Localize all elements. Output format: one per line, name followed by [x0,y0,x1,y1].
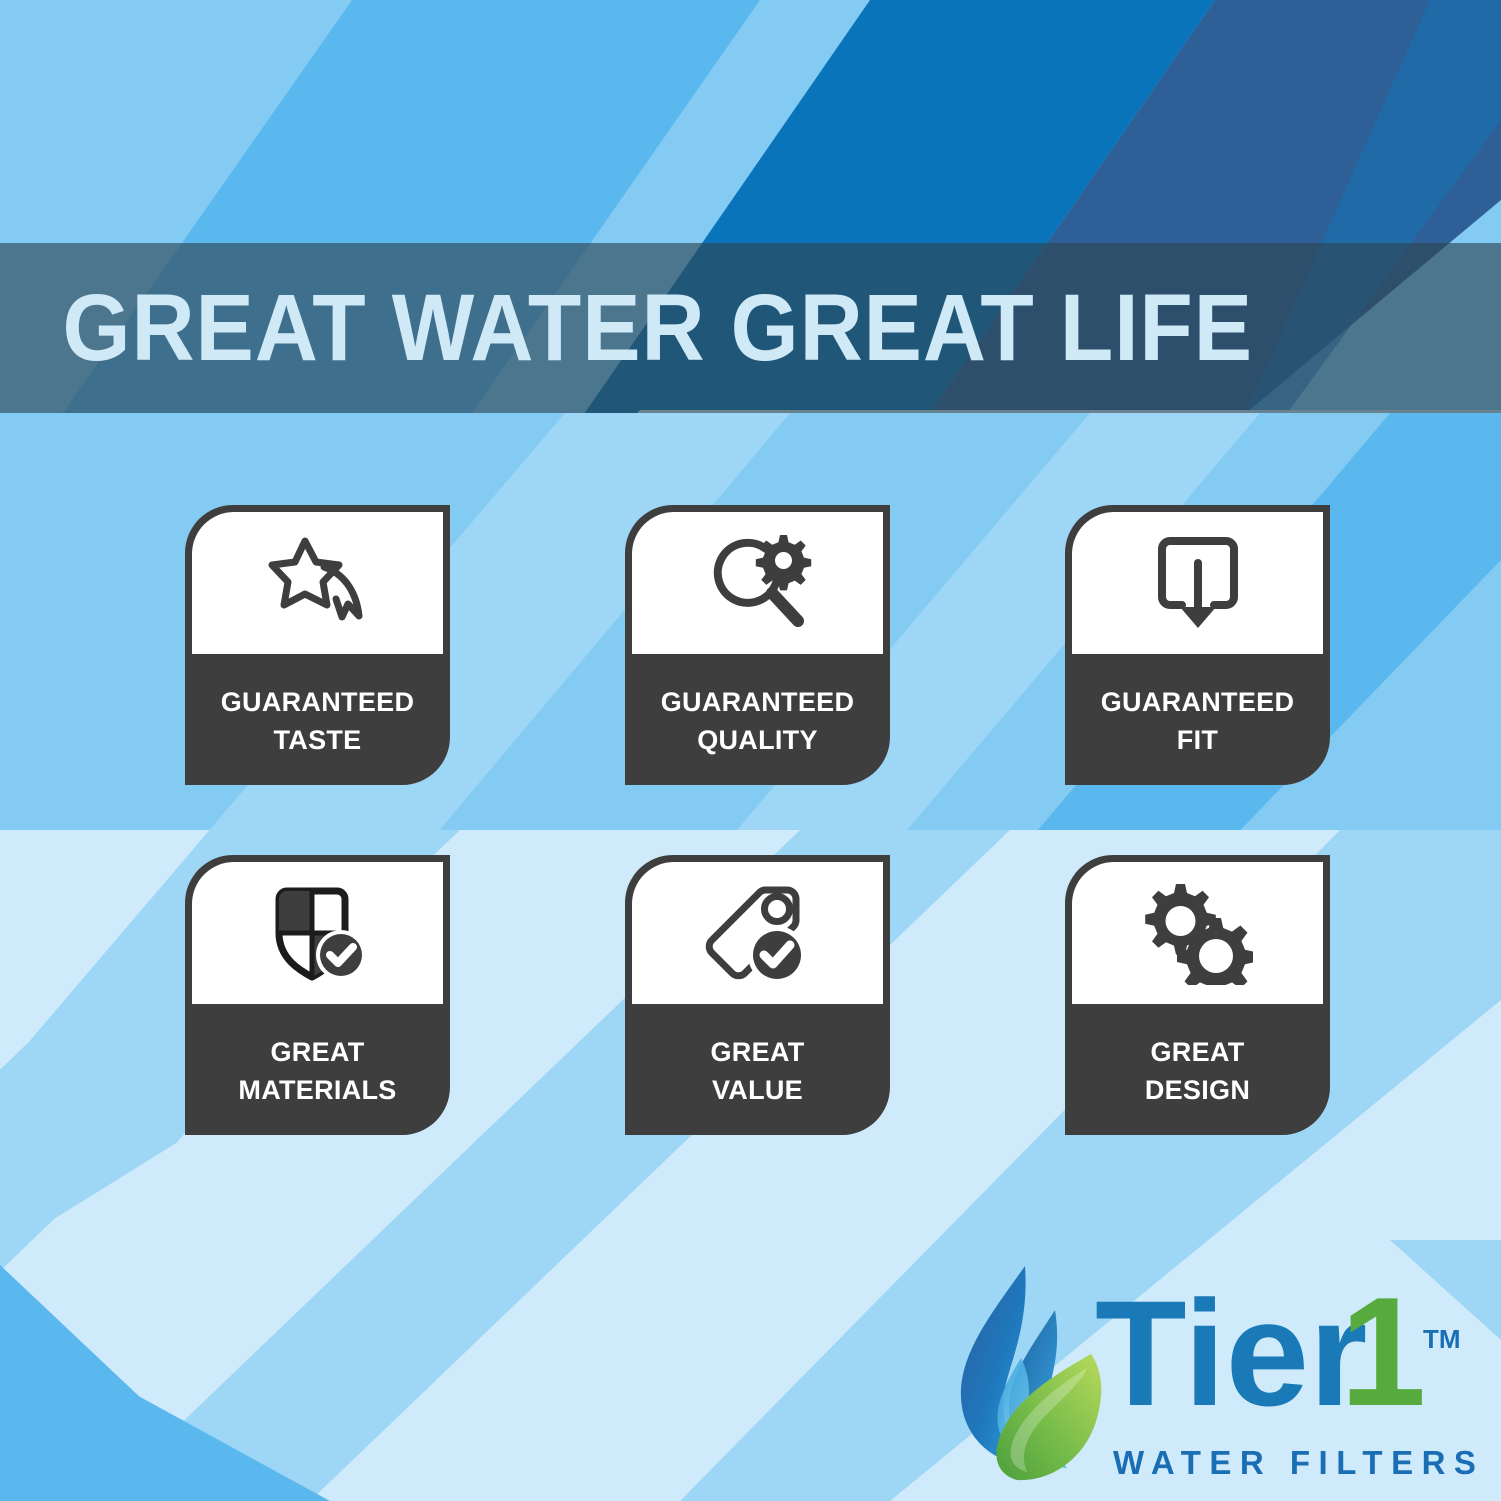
card-icon-area [1072,862,1323,1004]
feature-card-great-design[interactable]: GREAT DESIGN [1065,855,1330,1135]
headline-banner: GREAT WATER GREAT LIFE [0,243,1501,413]
feature-card-great-value[interactable]: GREAT VALUE [625,855,890,1135]
water-drop-leaf-icon [955,1262,1115,1484]
feature-card-guaranteed-taste[interactable]: GUARANTEED TASTE [185,505,450,785]
price-tag-check-icon [703,881,813,985]
feature-card-grid: GUARANTEED TASTE GUARANTEED QUALITY [185,505,1330,1135]
insert-down-arrow-icon [1148,531,1248,635]
page-title: GREAT WATER GREAT LIFE [0,281,1253,376]
brand-logo[interactable]: Tier 1 TM WATER FILTERS [955,1262,1475,1492]
card-label: GUARANTEED TASTE [185,654,450,785]
card-label: GREAT DESIGN [1065,1004,1330,1135]
logo-brand-number: 1 [1340,1280,1425,1438]
card-label: GREAT MATERIALS [185,1004,450,1135]
logo-wordmark: Tier 1 [1095,1280,1425,1450]
feature-card-guaranteed-fit[interactable]: GUARANTEED FIT [1065,505,1330,785]
shield-check-icon [265,881,371,985]
card-icon-area [1072,512,1323,654]
card-icon-area [632,862,883,1004]
card-icon-area [192,512,443,654]
feature-card-great-materials[interactable]: GREAT MATERIALS [185,855,450,1135]
feature-card-guaranteed-quality[interactable]: GUARANTEED QUALITY [625,505,890,785]
logo-tagline: WATER FILTERS [1113,1444,1484,1482]
promo-graphic: GREAT WATER GREAT LIFE GUARANTEED TASTE [0,0,1501,1501]
card-label: GUARANTEED FIT [1065,654,1330,785]
two-gears-icon [1143,881,1253,985]
card-icon-area [192,862,443,1004]
magnifier-gear-icon [704,531,812,635]
card-icon-area [632,512,883,654]
shooting-star-icon [266,531,370,635]
card-label: GREAT VALUE [625,1004,890,1135]
logo-brand-text: Tier [1095,1280,1367,1437]
trademark-symbol: TM [1423,1324,1461,1355]
card-label: GUARANTEED QUALITY [625,654,890,785]
